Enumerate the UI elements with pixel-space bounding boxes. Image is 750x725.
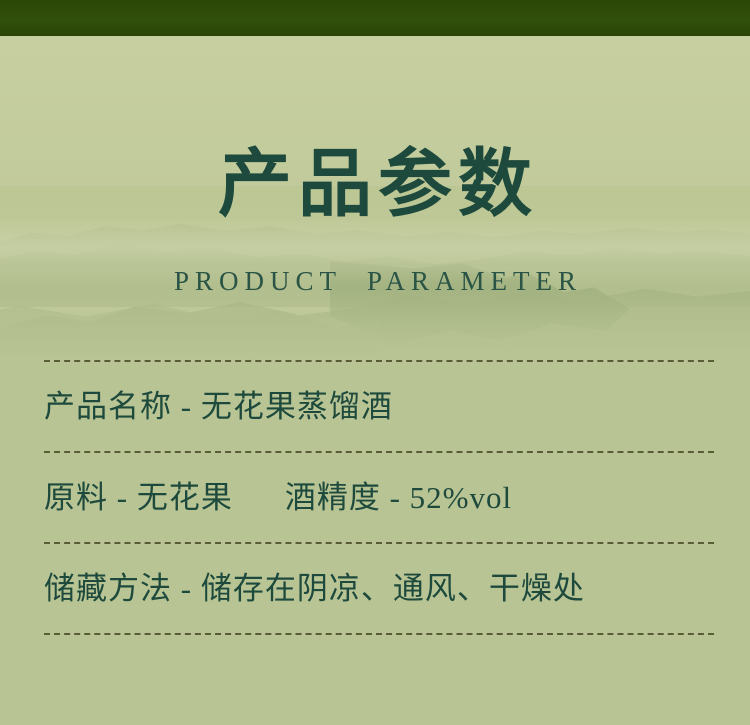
spec-product-name-text: 产品名称 - 无花果蒸馏酒: [44, 388, 393, 425]
spec-divider-1: [44, 451, 714, 453]
spec-abv-text: 酒精度 - 52%vol: [285, 479, 512, 516]
page-title-english: PRODUCT PARAMETER: [0, 268, 750, 295]
spec-row-product-name: 产品名称 - 无花果蒸馏酒: [44, 362, 714, 451]
spec-divider-top: [44, 360, 714, 362]
spec-storage-text: 储藏方法 - 储存在阴凉、通风、干燥处: [44, 570, 585, 607]
spec-list: 产品名称 - 无花果蒸馏酒 原料 - 无花果 酒精度 - 52%vol 储藏方法…: [44, 360, 714, 635]
page-title-chinese: 产品参数: [0, 148, 750, 222]
hero-bottom-fade: [0, 290, 750, 360]
spec-divider-3: [44, 633, 714, 635]
spec-divider-2: [44, 542, 714, 544]
spec-ingredient-text: 原料 - 无花果: [44, 479, 233, 516]
spec-row-storage: 储藏方法 - 储存在阴凉、通风、干燥处: [44, 544, 714, 633]
product-parameter-page: 产品参数 PRODUCT PARAMETER 产品名称 - 无花果蒸馏酒 原料 …: [0, 0, 750, 725]
spec-row-ingredient-abv: 原料 - 无花果 酒精度 - 52%vol: [44, 453, 714, 542]
top-accent-bar: [0, 0, 750, 36]
